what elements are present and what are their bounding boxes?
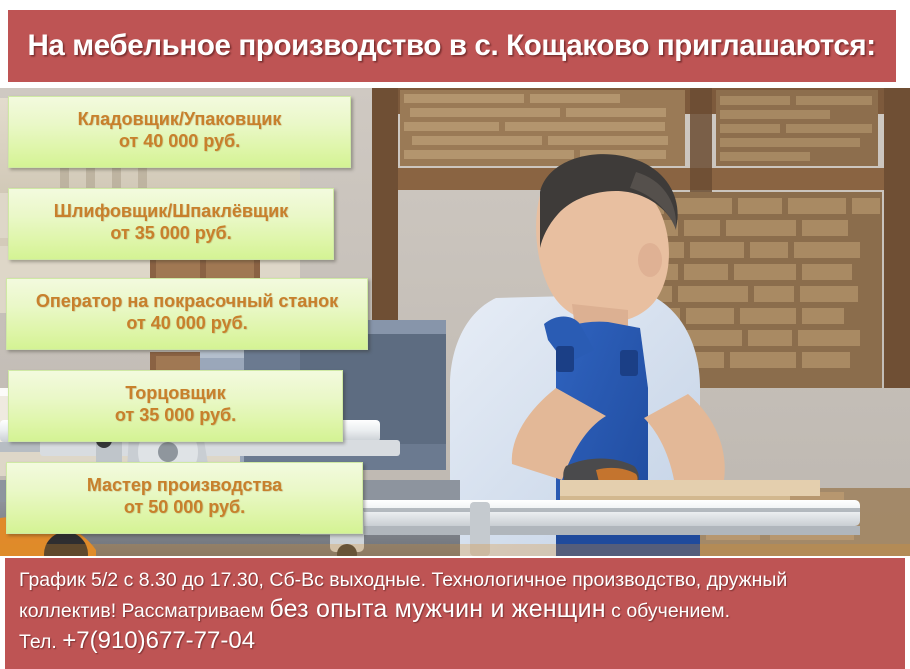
- vacancy-salary-1: от 35 000 руб.: [110, 223, 231, 245]
- vacancy-salary-4: от 50 000 руб.: [124, 497, 245, 519]
- footer-schedule-line: График 5/2 с 8.30 до 17.30, Сб-Вс выходн…: [19, 566, 891, 595]
- vacancy-card-3: Торцовщик от 35 000 руб.: [8, 370, 343, 442]
- vacancy-card-1: Шлифовщик/Шпаклёвщик от 35 000 руб.: [8, 188, 334, 260]
- vacancy-card-4: Мастер производства от 50 000 руб.: [6, 462, 363, 534]
- vacancy-title-1: Шлифовщик/Шпаклёвщик: [54, 201, 288, 223]
- vacancy-title-2: Оператор на покрасочный станок: [36, 291, 338, 313]
- vacancy-salary-2: от 40 000 руб.: [126, 313, 247, 335]
- job-advertisement-poster: На мебельное производство в с. Кощаково …: [0, 0, 910, 669]
- vacancy-card-0: Кладовщик/Упаковщик от 40 000 руб.: [8, 96, 351, 168]
- vacancy-title-4: Мастер производства: [87, 475, 282, 497]
- vacancy-salary-0: от 40 000 руб.: [119, 131, 240, 153]
- phone-number[interactable]: +7(910)677-77-04: [62, 627, 255, 654]
- footer-conditions-line: коллектив! Рассматриваем без опыта мужчи…: [19, 595, 891, 626]
- poster-footer-band: График 5/2 с 8.30 до 17.30, Сб-Вс выходн…: [5, 558, 905, 669]
- vacancy-card-2: Оператор на покрасочный станок от 40 000…: [6, 278, 368, 350]
- phone-label: Тел.: [19, 631, 62, 653]
- footer-conditions-suffix: с обучением.: [606, 600, 730, 622]
- vacancy-salary-3: от 35 000 руб.: [115, 405, 236, 427]
- footer-conditions-prefix: коллектив! Рассматриваем: [19, 600, 269, 622]
- footer-phone-line: Тел. +7(910)677-77-04: [19, 626, 891, 657]
- footer-conditions-emphasis: без опыта мужчин и женщин: [269, 595, 605, 623]
- vacancy-title-0: Кладовщик/Упаковщик: [78, 109, 282, 131]
- poster-title: На мебельное производство в с. Кощаково …: [28, 29, 876, 63]
- vacancy-title-3: Торцовщик: [125, 383, 225, 405]
- poster-header-band: На мебельное производство в с. Кощаково …: [8, 10, 896, 82]
